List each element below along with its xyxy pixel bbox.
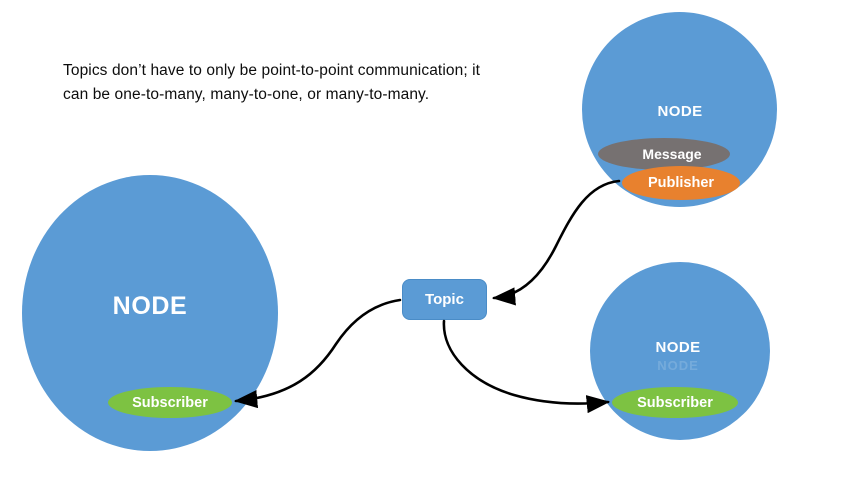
message-pill-label: Message [642,146,701,162]
subscriber-pill-left-label: Subscriber [132,395,208,411]
subscriber-pill-right[interactable]: Subscriber [612,387,738,418]
subscriber-pill-left[interactable]: Subscriber [108,387,232,418]
topic-box-label: Topic [425,291,464,308]
publisher-pill-label: Publisher [648,175,714,191]
node-bottom-label: NODE [656,339,701,356]
message-pill[interactable]: Message [598,138,730,170]
diagram-canvas: Topics don’t have to only be point-to-po… [0,0,854,480]
arrow-topic-to-right-subscriber [444,321,608,404]
topic-box[interactable]: Topic [402,279,487,320]
node-left-label: NODE [113,292,188,321]
ghost-text-artifact: NODE [657,358,699,373]
arrow-publisher-to-topic [494,181,619,298]
caption-text: Topics don’t have to only be point-to-po… [63,59,483,107]
node-top-label: NODE [658,103,703,120]
subscriber-pill-right-label: Subscriber [637,395,713,411]
publisher-pill[interactable]: Publisher [622,166,740,200]
